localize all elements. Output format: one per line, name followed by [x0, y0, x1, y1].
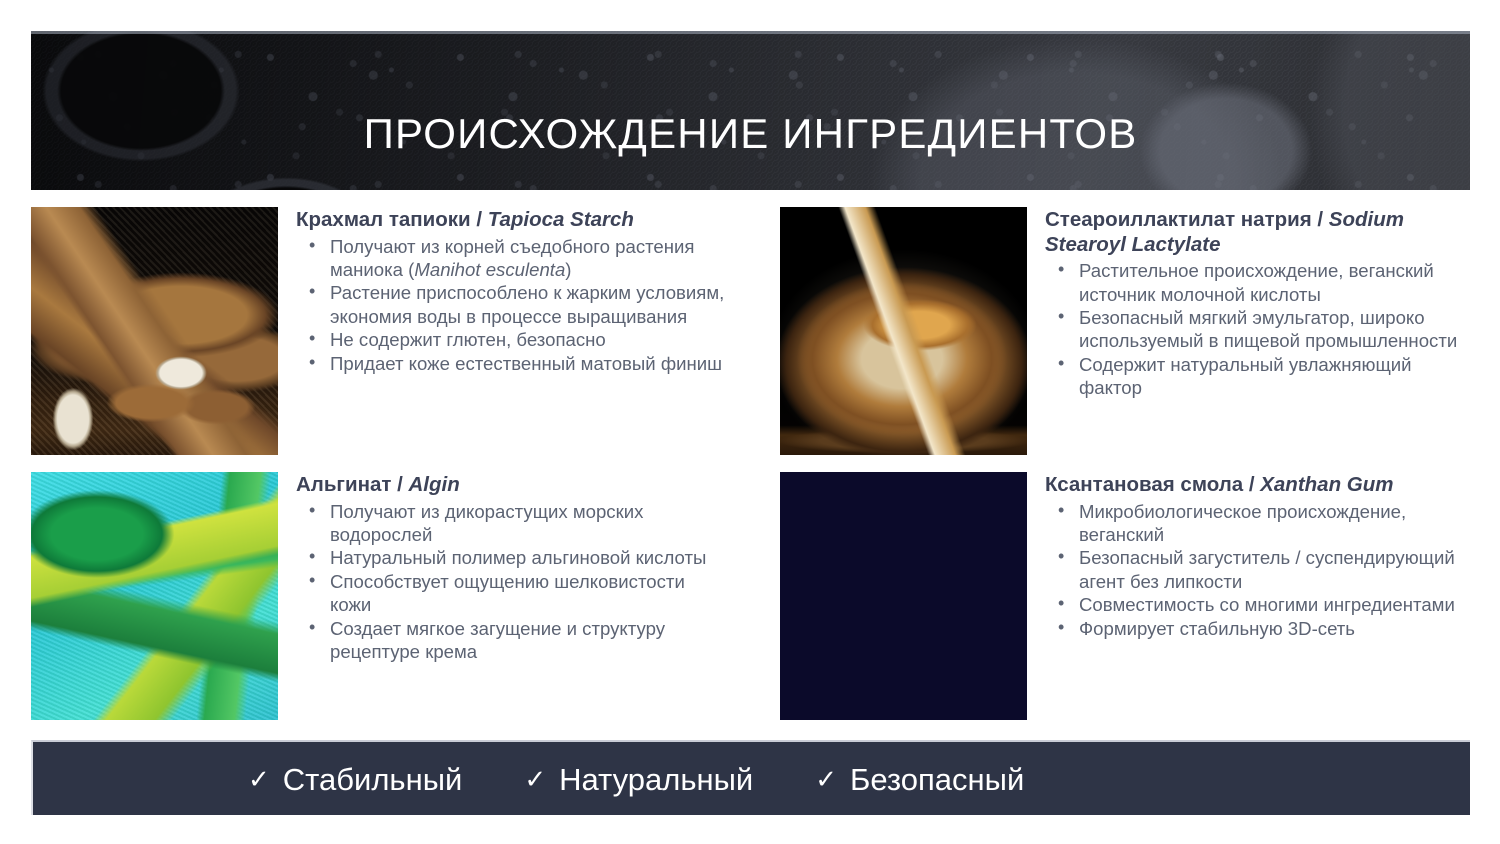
list-item: Не содержит глютен, безопасно: [296, 328, 731, 351]
card-text: Крахмал тапиоки / Tapioca Starch Получаю…: [296, 207, 731, 455]
header-top-divider: [31, 31, 1470, 34]
list-item: Натуральный полимер альгиновой кислоты: [296, 546, 731, 569]
list-item: Безопасный мягкий эмульгатор, широко исп…: [1045, 306, 1470, 353]
card-title: Стеароиллактилат натрия / Sodium Stearoy…: [1045, 208, 1470, 257]
bullet-text: Растение приспособлено к жарким условиям…: [330, 282, 724, 326]
bullet-latin-name: Manihot esculenta: [414, 259, 565, 280]
list-item: Получают из дикорастущих морских водорос…: [296, 500, 731, 547]
check-icon: ✓: [248, 766, 270, 792]
list-item: Формирует стабильную 3D-сеть: [1045, 617, 1470, 640]
bullet-text: Получают из дикорастущих морских водорос…: [330, 501, 643, 545]
bullet-text: Создает мягкое загущение и структуру рец…: [330, 618, 665, 662]
bullet-text: Безопасный загуститель / суспендирующий …: [1079, 547, 1455, 591]
header-banner: ПРОИСХОЖДЕНИЕ ИНГРЕДИЕНТОВ: [31, 31, 1470, 190]
list-item: Придает коже естественный матовый финиш: [296, 352, 731, 375]
ingredient-card-sodium-stearoyl-lactylate: Стеароиллактилат натрия / Sodium Stearoy…: [780, 207, 1470, 455]
slide: ПРОИСХОЖДЕНИЕ ИНГРЕДИЕНТОВ Крахмал тапио…: [0, 0, 1500, 844]
page-title: ПРОИСХОЖДЕНИЕ ИНГРЕДИЕНТОВ: [31, 113, 1470, 155]
bullet-list: Получают из дикорастущих морских водорос…: [296, 500, 731, 664]
list-item: Совместимость со многими ингредиентами: [1045, 593, 1470, 616]
card-title-ru: Ксантановая смола /: [1045, 473, 1260, 496]
ingredient-grid: Крахмал тапиоки / Tapioca Starch Получаю…: [31, 207, 1470, 725]
bullet-text: Придает коже естественный матовый финиш: [330, 353, 722, 374]
footer-item-label: Натуральный: [559, 764, 753, 795]
footer-items: ✓ Стабильный ✓ Натуральный ✓ Безопасный: [248, 742, 1024, 817]
card-text: Стеароиллактилат натрия / Sodium Stearoy…: [1045, 207, 1470, 455]
footer-item-stable: ✓ Стабильный: [248, 764, 462, 795]
bullet-text: Совместимость со многими ингредиентами: [1079, 594, 1455, 615]
footer-banner: ✓ Стабильный ✓ Натуральный ✓ Безопасный: [31, 740, 1470, 815]
bullet-list: Растительное происхождение, веганский ис…: [1045, 259, 1470, 400]
card-text: Альгинат / Algin Получают из дикорастущи…: [296, 472, 731, 720]
card-title-en: Tapioca Starch: [488, 208, 634, 231]
bullet-text: Способствует ощущению шелковистости кожи: [330, 571, 685, 615]
cassava-tapioca-roots-image: [31, 207, 278, 455]
footer-item-label: Стабильный: [283, 764, 463, 795]
card-title-en: Algin: [408, 473, 459, 496]
bullet-text: Натуральный полимер альгиновой кислоты: [330, 547, 706, 568]
card-title-ru: Альгинат /: [296, 473, 408, 496]
rustic-bread-loaf-image: [780, 207, 1027, 455]
list-item: Растительное происхождение, веганский ис…: [1045, 259, 1470, 306]
footer-item-safe: ✓ Безопасный: [815, 764, 1024, 795]
footer-item-natural: ✓ Натуральный: [524, 764, 753, 795]
list-item: Содержит натуральный увлажняющий фактор: [1045, 353, 1470, 400]
bullet-text: Формирует стабильную 3D-сеть: [1079, 618, 1355, 639]
bullet-text: Растительное происхождение, веганский ис…: [1079, 260, 1434, 304]
card-title: Крахмал тапиоки / Tapioca Starch: [296, 208, 731, 233]
check-icon: ✓: [524, 766, 546, 792]
bullet-text: Не содержит глютен, безопасно: [330, 329, 606, 350]
bullet-list: Получают из корней съедобного растения м…: [296, 235, 731, 376]
card-title-ru: Стеароиллактилат натрия /: [1045, 208, 1329, 231]
ingredient-card-tapioca-starch: Крахмал тапиоки / Tapioca Starch Получаю…: [31, 207, 731, 455]
list-item: Получают из корней съедобного растения м…: [296, 235, 731, 282]
bullet-list: Микробиологическое происхождение, веганс…: [1045, 500, 1470, 641]
card-title: Альгинат / Algin: [296, 473, 731, 498]
card-title-en: Xanthan Gum: [1260, 473, 1393, 496]
bullet-text: Микробиологическое происхождение, веганс…: [1079, 501, 1406, 545]
ingredient-card-xanthan-gum: Ксантановая смола / Xanthan Gum Микробио…: [780, 472, 1470, 720]
list-item: Способствует ощущению шелковистости кожи: [296, 570, 731, 617]
list-item: Безопасный загуститель / суспендирующий …: [1045, 546, 1470, 593]
footer-item-label: Безопасный: [850, 764, 1024, 795]
card-title: Ксантановая смола / Xanthan Gum: [1045, 473, 1470, 498]
microbial-network-image: [780, 472, 1027, 720]
list-item: Создает мягкое загущение и структуру рец…: [296, 617, 731, 664]
bullet-text: Безопасный мягкий эмульгатор, широко исп…: [1079, 307, 1457, 351]
bullet-text: Содержит натуральный увлажняющий фактор: [1079, 354, 1412, 398]
card-text: Ксантановая смола / Xanthan Gum Микробио…: [1045, 472, 1470, 720]
bullet-text-tail: ): [565, 259, 571, 280]
list-item: Растение приспособлено к жарким условиям…: [296, 281, 731, 328]
card-title-ru: Крахмал тапиоки /: [296, 208, 488, 231]
check-icon: ✓: [815, 766, 837, 792]
seaweed-algae-image: [31, 472, 278, 720]
ingredient-card-algin: Альгинат / Algin Получают из дикорастущи…: [31, 472, 731, 720]
list-item: Микробиологическое происхождение, веганс…: [1045, 500, 1470, 547]
